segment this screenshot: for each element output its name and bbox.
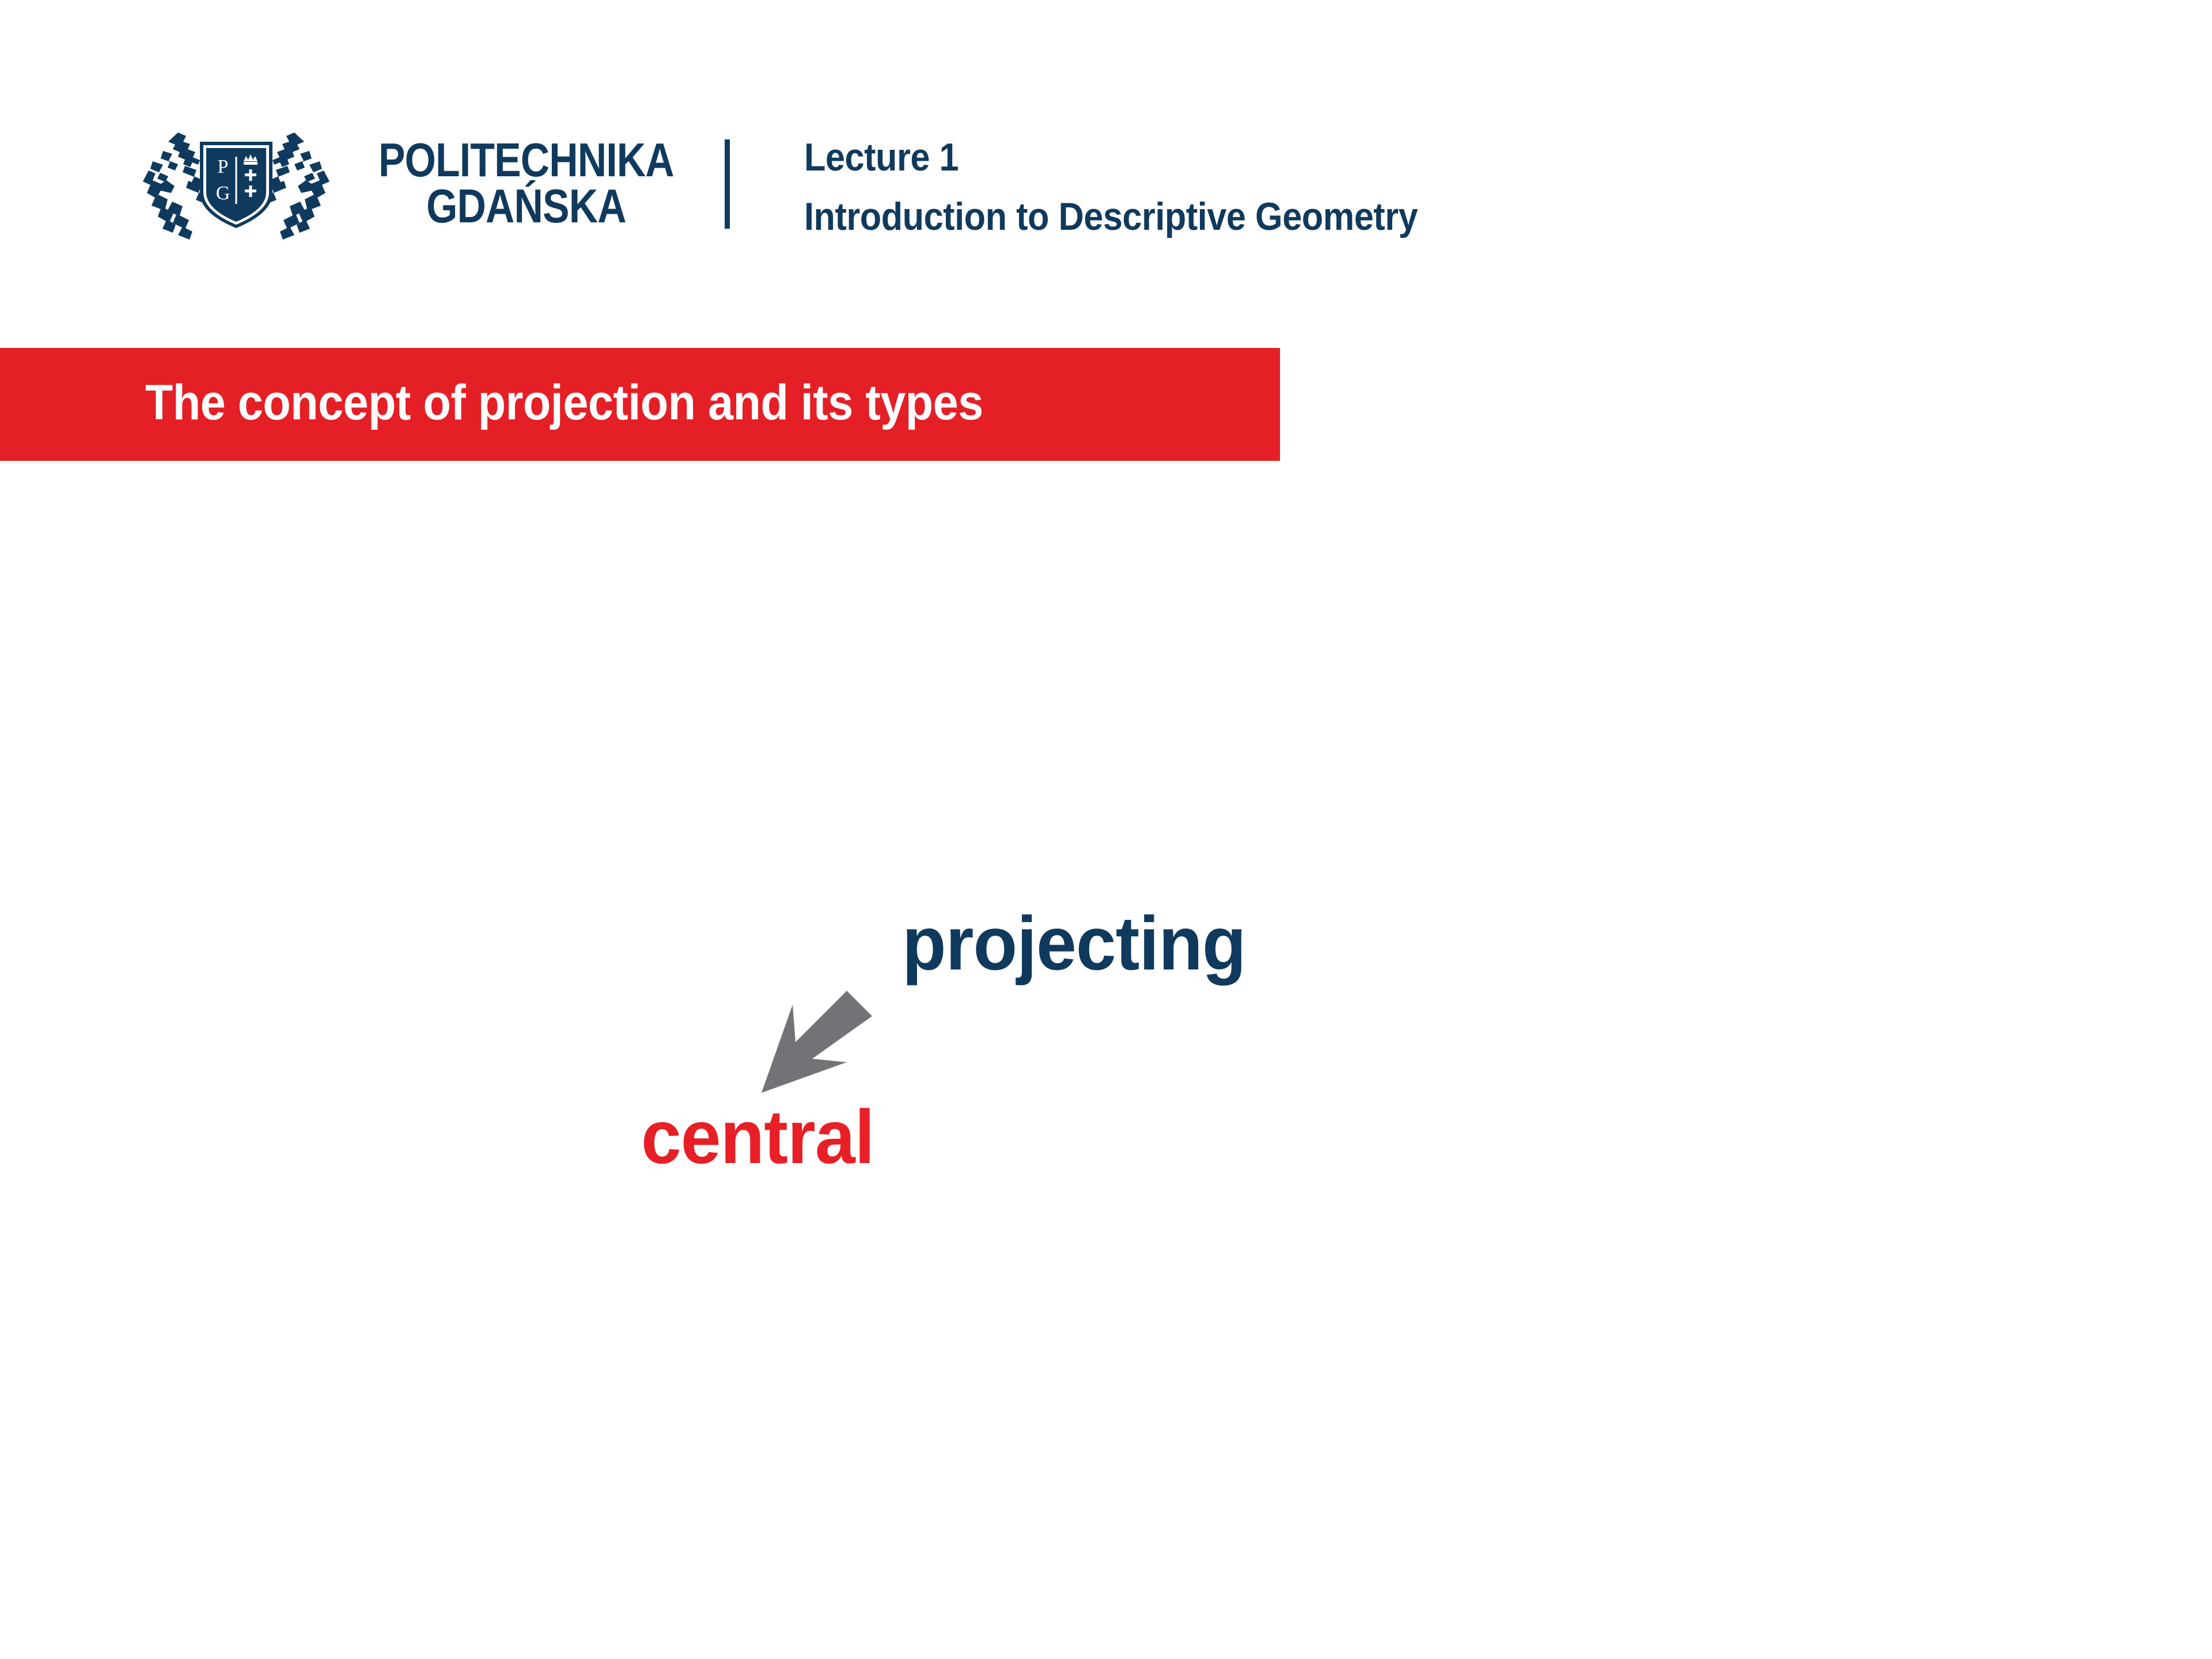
label-central: central xyxy=(641,1099,874,1175)
svg-text:G: G xyxy=(216,183,230,204)
lecture-title: Lecture 1 Introduction to Descriptive Ge… xyxy=(804,128,1418,247)
wordmark-line-2: GDAŃSKA xyxy=(378,183,674,229)
svg-text:P: P xyxy=(218,156,229,177)
university-branding: P G POLITECHNIKA GDAŃSKA xyxy=(130,124,706,242)
gdansk-tech-crest-icon: P G xyxy=(130,126,343,241)
vertical-divider xyxy=(725,139,730,229)
lecture-subject: Introduction to Descriptive Geometry xyxy=(804,187,1418,247)
section-banner: The concept of projection and its types xyxy=(0,348,1280,461)
wordmark-line-1: POLITECHNIKA xyxy=(378,137,674,183)
lecture-number: Lecture 1 xyxy=(804,128,1418,187)
slide-canvas: P G POLITECHNIKA GDAŃSKA Lecture 1 Intro… xyxy=(0,0,2212,1659)
arrow-down-left-icon xyxy=(759,986,874,1096)
section-banner-title: The concept of projection and its types xyxy=(145,378,983,427)
label-projecting: projecting xyxy=(902,906,1246,982)
university-wordmark: POLITECHNIKA GDAŃSKA xyxy=(378,137,674,229)
